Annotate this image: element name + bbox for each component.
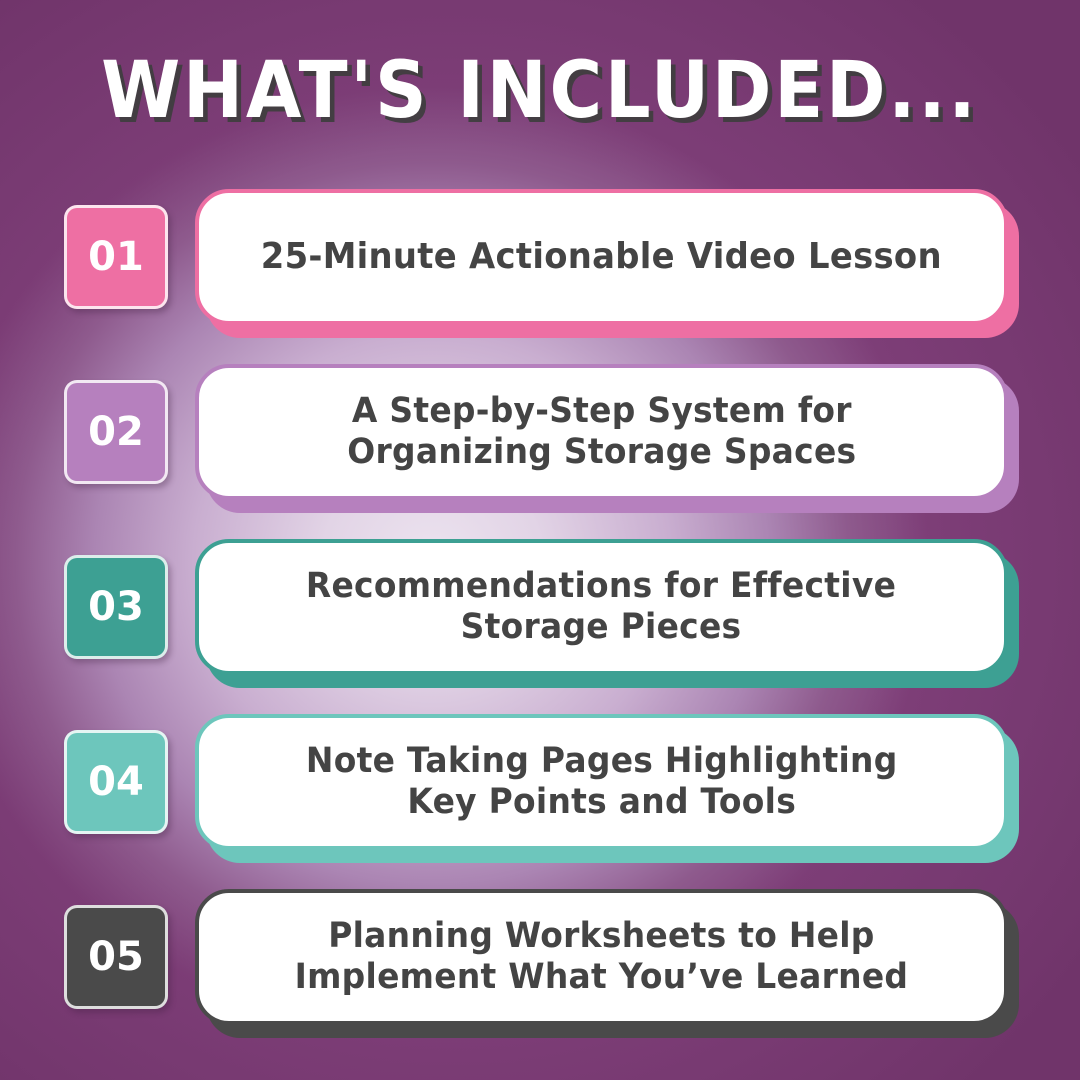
poster-canvas: WHAT'S INCLUDED... 01 25-Minute Actionab… (0, 0, 1080, 1080)
item-number-badge-04: 04 (64, 730, 168, 834)
item-pill-05: Planning Worksheets to Help Implement Wh… (195, 889, 1008, 1025)
item-label: Planning Worksheets to Help Implement Wh… (295, 916, 909, 998)
item-pill-04: Note Taking Pages Highlighting Key Point… (195, 714, 1008, 850)
item-number-label: 01 (88, 234, 144, 280)
list-item: 03 Recommendations for Effective Storage… (0, 532, 1080, 682)
item-pill-02: A Step-by-Step System for Organizing Sto… (195, 364, 1008, 500)
item-pill-01: 25-Minute Actionable Video Lesson (195, 189, 1008, 325)
included-items-list: 01 25-Minute Actionable Video Lesson 02 … (0, 182, 1080, 1032)
page-title: WHAT'S INCLUDED... (101, 52, 978, 130)
pill-body: 25-Minute Actionable Video Lesson (195, 189, 1008, 325)
pill-body: Note Taking Pages Highlighting Key Point… (195, 714, 1008, 850)
item-number-label: 03 (88, 584, 144, 630)
list-item: 01 25-Minute Actionable Video Lesson (0, 182, 1080, 332)
pill-body: A Step-by-Step System for Organizing Sto… (195, 364, 1008, 500)
list-item: 04 Note Taking Pages Highlighting Key Po… (0, 707, 1080, 857)
item-number-badge-01: 01 (64, 205, 168, 309)
item-label: 25-Minute Actionable Video Lesson (261, 236, 942, 278)
item-number-badge-03: 03 (64, 555, 168, 659)
item-label: Note Taking Pages Highlighting Key Point… (306, 741, 898, 823)
item-label: Recommendations for Effective Storage Pi… (306, 566, 896, 648)
item-number-label: 04 (88, 759, 144, 805)
item-number-badge-02: 02 (64, 380, 168, 484)
item-number-label: 02 (88, 409, 144, 455)
item-label: A Step-by-Step System for Organizing Sto… (347, 391, 856, 473)
list-item: 05 Planning Worksheets to Help Implement… (0, 882, 1080, 1032)
item-pill-03: Recommendations for Effective Storage Pi… (195, 539, 1008, 675)
item-number-badge-05: 05 (64, 905, 168, 1009)
pill-body: Recommendations for Effective Storage Pi… (195, 539, 1008, 675)
pill-body: Planning Worksheets to Help Implement Wh… (195, 889, 1008, 1025)
list-item: 02 A Step-by-Step System for Organizing … (0, 357, 1080, 507)
heading-container: WHAT'S INCLUDED... (0, 52, 1080, 130)
item-number-label: 05 (88, 934, 144, 980)
